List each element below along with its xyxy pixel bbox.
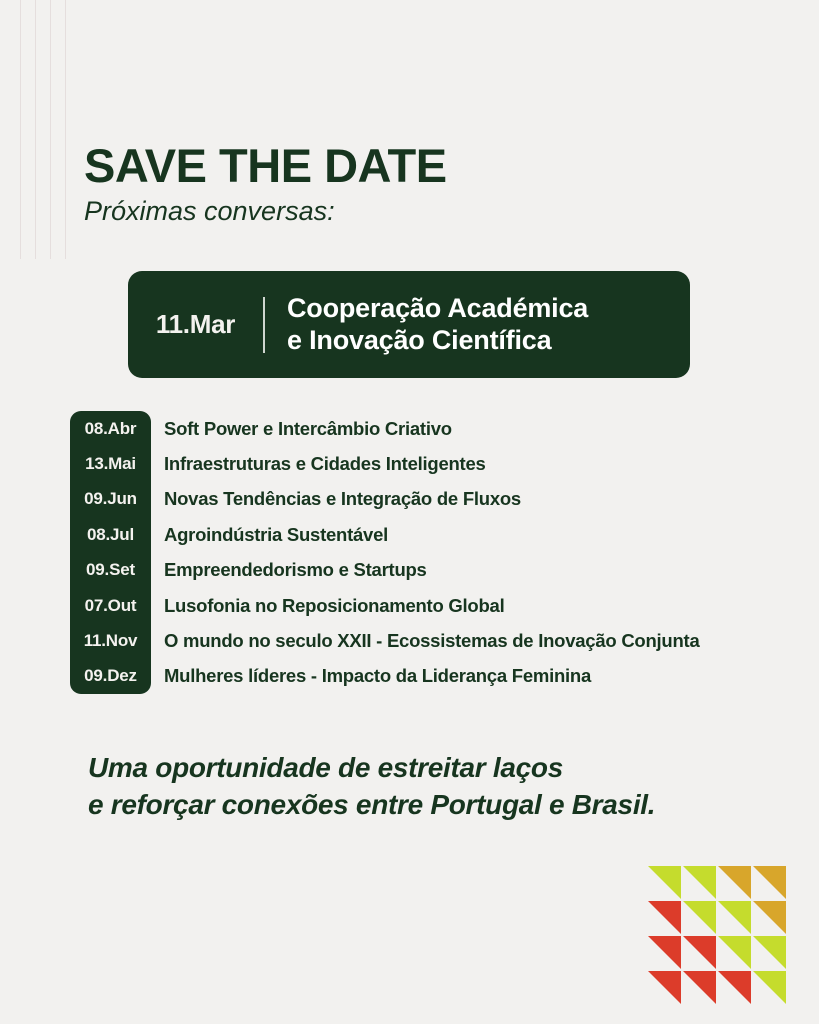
schedule-row-date: 07.Out <box>70 596 151 616</box>
tagline: Uma oportunidade de estreitar laços e re… <box>88 749 655 823</box>
save-the-date-poster: { "colors": { "background": "#f2f1ef", "… <box>0 0 819 1024</box>
logo-triangle-shape <box>648 971 681 1004</box>
logo-triangle-shape <box>718 936 751 969</box>
logo-triangle-shape <box>753 866 786 899</box>
logo-triangle-shape <box>753 936 786 969</box>
schedule-row[interactable]: 08.Abr Soft Power e Intercâmbio Criativo <box>70 411 790 446</box>
schedule-row-title: Soft Power e Intercâmbio Criativo <box>151 418 452 440</box>
schedule-row[interactable]: 09.Jun Novas Tendências e Integração de … <box>70 482 790 517</box>
logo-triangle-shape <box>648 936 681 969</box>
header: SAVE THE DATE Próximas conversas: <box>84 142 744 227</box>
featured-event-title-line1: Cooperação Académica <box>287 293 588 325</box>
page-subtitle: Próximas conversas: <box>84 197 744 227</box>
featured-event-date: 11.Mar <box>128 309 263 340</box>
logo-triangle-shape <box>683 901 716 934</box>
decorative-vertical-lines <box>0 0 90 259</box>
schedule-row[interactable]: 07.Out Lusofonia no Reposicionamento Glo… <box>70 588 790 623</box>
logo-triangle-shape <box>718 971 751 1004</box>
schedule-row-date: 09.Jun <box>70 489 151 509</box>
decorative-line-3 <box>50 0 51 259</box>
logo-triangle-green <box>753 936 788 971</box>
logo-triangle-red <box>648 901 683 936</box>
logo-triangle-green <box>718 901 753 936</box>
logo-triangle-shape <box>648 901 681 934</box>
schedule-row-date: 08.Abr <box>70 419 151 439</box>
logo-triangle-green <box>718 936 753 971</box>
tagline-line1: Uma oportunidade de estreitar laços <box>88 749 655 786</box>
schedule-row-title: Agroindústria Sustentável <box>151 524 388 546</box>
logo-triangle-green <box>683 866 718 901</box>
page-title: SAVE THE DATE <box>84 142 744 189</box>
schedule-row-title: Infraestruturas e Cidades Inteligentes <box>151 453 486 475</box>
tagline-line2: e reforçar conexões entre Portugal e Bra… <box>88 786 655 823</box>
schedule-row-date: 08.Jul <box>70 525 151 545</box>
logo-triangle-red <box>683 971 718 1006</box>
featured-event-card[interactable]: 11.Mar Cooperação Académica e Inovação C… <box>128 271 690 378</box>
schedule-row-title: Empreendedorismo e Startups <box>151 559 427 581</box>
logo-triangle-red <box>683 936 718 971</box>
logo-triangle-shape <box>753 971 786 1004</box>
schedule-row[interactable]: 08.Jul Agroindústria Sustentável <box>70 517 790 552</box>
logo-triangle-gold <box>718 866 753 901</box>
decorative-line-2 <box>35 0 36 259</box>
logo-triangle-shape <box>683 936 716 969</box>
logo-triangle-green <box>648 866 683 901</box>
logo-triangle-red <box>648 971 683 1006</box>
logo-triangle-gold <box>753 901 788 936</box>
schedule-row-title: Novas Tendências e Integração de Fluxos <box>151 488 521 510</box>
logo-triangle-shape <box>648 866 681 899</box>
schedule-row-title: Lusofonia no Reposicionamento Global <box>151 595 504 617</box>
logo-triangle-green <box>753 971 788 1006</box>
schedule-row-date: 13.Mai <box>70 454 151 474</box>
logo-triangle-gold <box>753 866 788 901</box>
logo-triangle-shape <box>683 866 716 899</box>
schedule-row[interactable]: 09.Set Empreendedorismo e Startups <box>70 553 790 588</box>
schedule-row-title: Mulheres líderes - Impacto da Liderança … <box>151 665 591 687</box>
schedule-row[interactable]: 13.Mai Infraestruturas e Cidades Intelig… <box>70 446 790 481</box>
logo-triangle-shape <box>718 866 751 899</box>
logo-triangle-red <box>718 971 753 1006</box>
schedule-row[interactable]: 09.Dez Mulheres líderes - Impacto da Lid… <box>70 659 790 694</box>
schedule-row-date: 09.Dez <box>70 666 151 686</box>
featured-event-title-line2: e Inovação Científica <box>287 325 588 357</box>
triangle-grid-logo <box>648 866 788 1006</box>
logo-triangle-green <box>683 901 718 936</box>
schedule-row-title: O mundo no seculo XXII - Ecossistemas de… <box>151 630 699 652</box>
schedule-row[interactable]: 11.Nov O mundo no seculo XXII - Ecossist… <box>70 623 790 658</box>
logo-triangle-shape <box>753 901 786 934</box>
logo-triangle-shape <box>718 901 751 934</box>
schedule-row-date: 11.Nov <box>70 631 151 651</box>
schedule-list: 08.Abr Soft Power e Intercâmbio Criativo… <box>70 411 790 694</box>
featured-event-title: Cooperação Académica e Inovação Científi… <box>265 293 588 356</box>
logo-triangle-red <box>648 936 683 971</box>
logo-triangle-shape <box>683 971 716 1004</box>
schedule-row-date: 09.Set <box>70 560 151 580</box>
decorative-line-4 <box>65 0 66 259</box>
decorative-line-1 <box>20 0 21 259</box>
